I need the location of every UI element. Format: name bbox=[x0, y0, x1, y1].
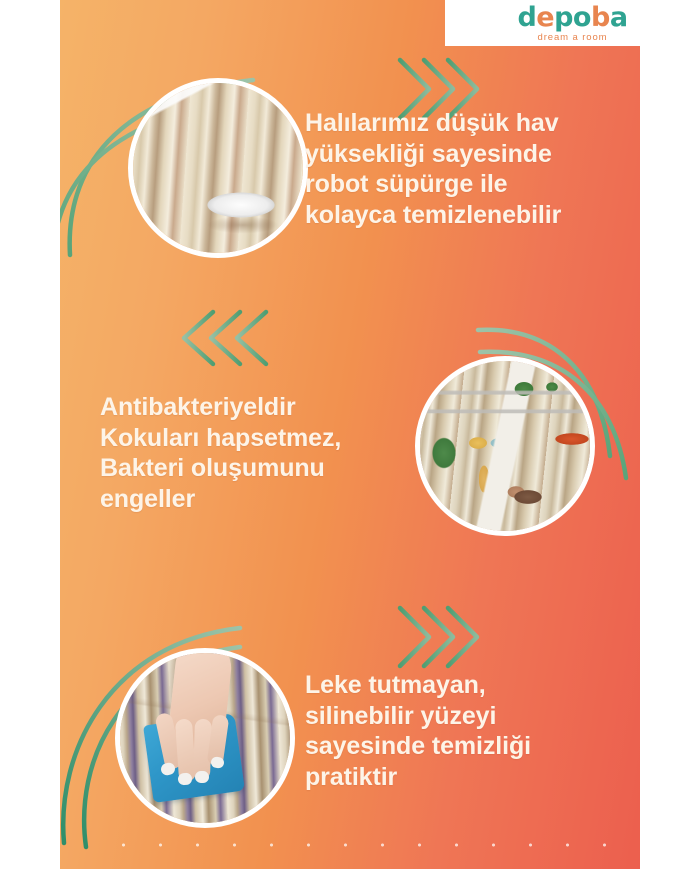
feature-text-line: yüksekliği sayesinde bbox=[305, 139, 635, 170]
brand-letter: a bbox=[610, 4, 628, 31]
feature-text-line: silinebilir yüzeyi bbox=[305, 701, 625, 732]
gradient-panel: Halılarımız düşük hav yüksekliği sayesin… bbox=[60, 0, 640, 869]
brand-tagline: dream a room bbox=[538, 32, 608, 43]
photo-living-room-shelf bbox=[420, 361, 590, 531]
feature-text-line: sayesinde temizliği bbox=[305, 731, 625, 762]
brand-letter: b bbox=[591, 4, 610, 31]
photo-robot-vacuum-overlay bbox=[133, 83, 303, 253]
feature-text-robot-vacuum: Halılarımız düşük hav yüksekliği sayesin… bbox=[305, 108, 635, 230]
feature-text-line: Leke tutmayan, bbox=[305, 670, 625, 701]
feature-text-line: Halılarımız düşük hav bbox=[305, 108, 635, 139]
brand-name: depoba bbox=[517, 4, 627, 31]
feature-text-line: kolayca temizlenebilir bbox=[305, 200, 635, 231]
brand-letter: o bbox=[573, 4, 591, 31]
feature-text-stain-resistant: Leke tutmayan, silinebilir yüzeyi sayesi… bbox=[305, 670, 625, 792]
photo-hand bbox=[120, 653, 290, 823]
feature-image-robot-vacuum bbox=[128, 78, 308, 258]
feature-text-antibacterial: Antibakteriyeldir Kokuları hapsetmez, Ba… bbox=[100, 392, 410, 514]
infographic-canvas: Halılarımız düşük hav yüksekliği sayesin… bbox=[0, 0, 700, 869]
brand-letter: d bbox=[517, 4, 536, 31]
feature-text-line: pratiktir bbox=[305, 762, 625, 793]
feature-text-line: Antibakteriyeldir bbox=[100, 392, 410, 423]
brand-logo[interactable]: depoba dream a room bbox=[445, 0, 700, 46]
feature-text-line: Bakteri oluşumunu bbox=[100, 453, 410, 484]
brand-letter: p bbox=[554, 4, 573, 31]
feature-text-line: robot süpürge ile bbox=[305, 169, 635, 200]
feature-text-line: engeller bbox=[100, 484, 410, 515]
feature-image-antibacterial bbox=[415, 356, 595, 536]
feature-image-stain-resistant bbox=[115, 648, 295, 828]
feature-text-line: Kokuları hapsetmez, bbox=[100, 423, 410, 454]
brand-letter: e bbox=[536, 4, 554, 31]
